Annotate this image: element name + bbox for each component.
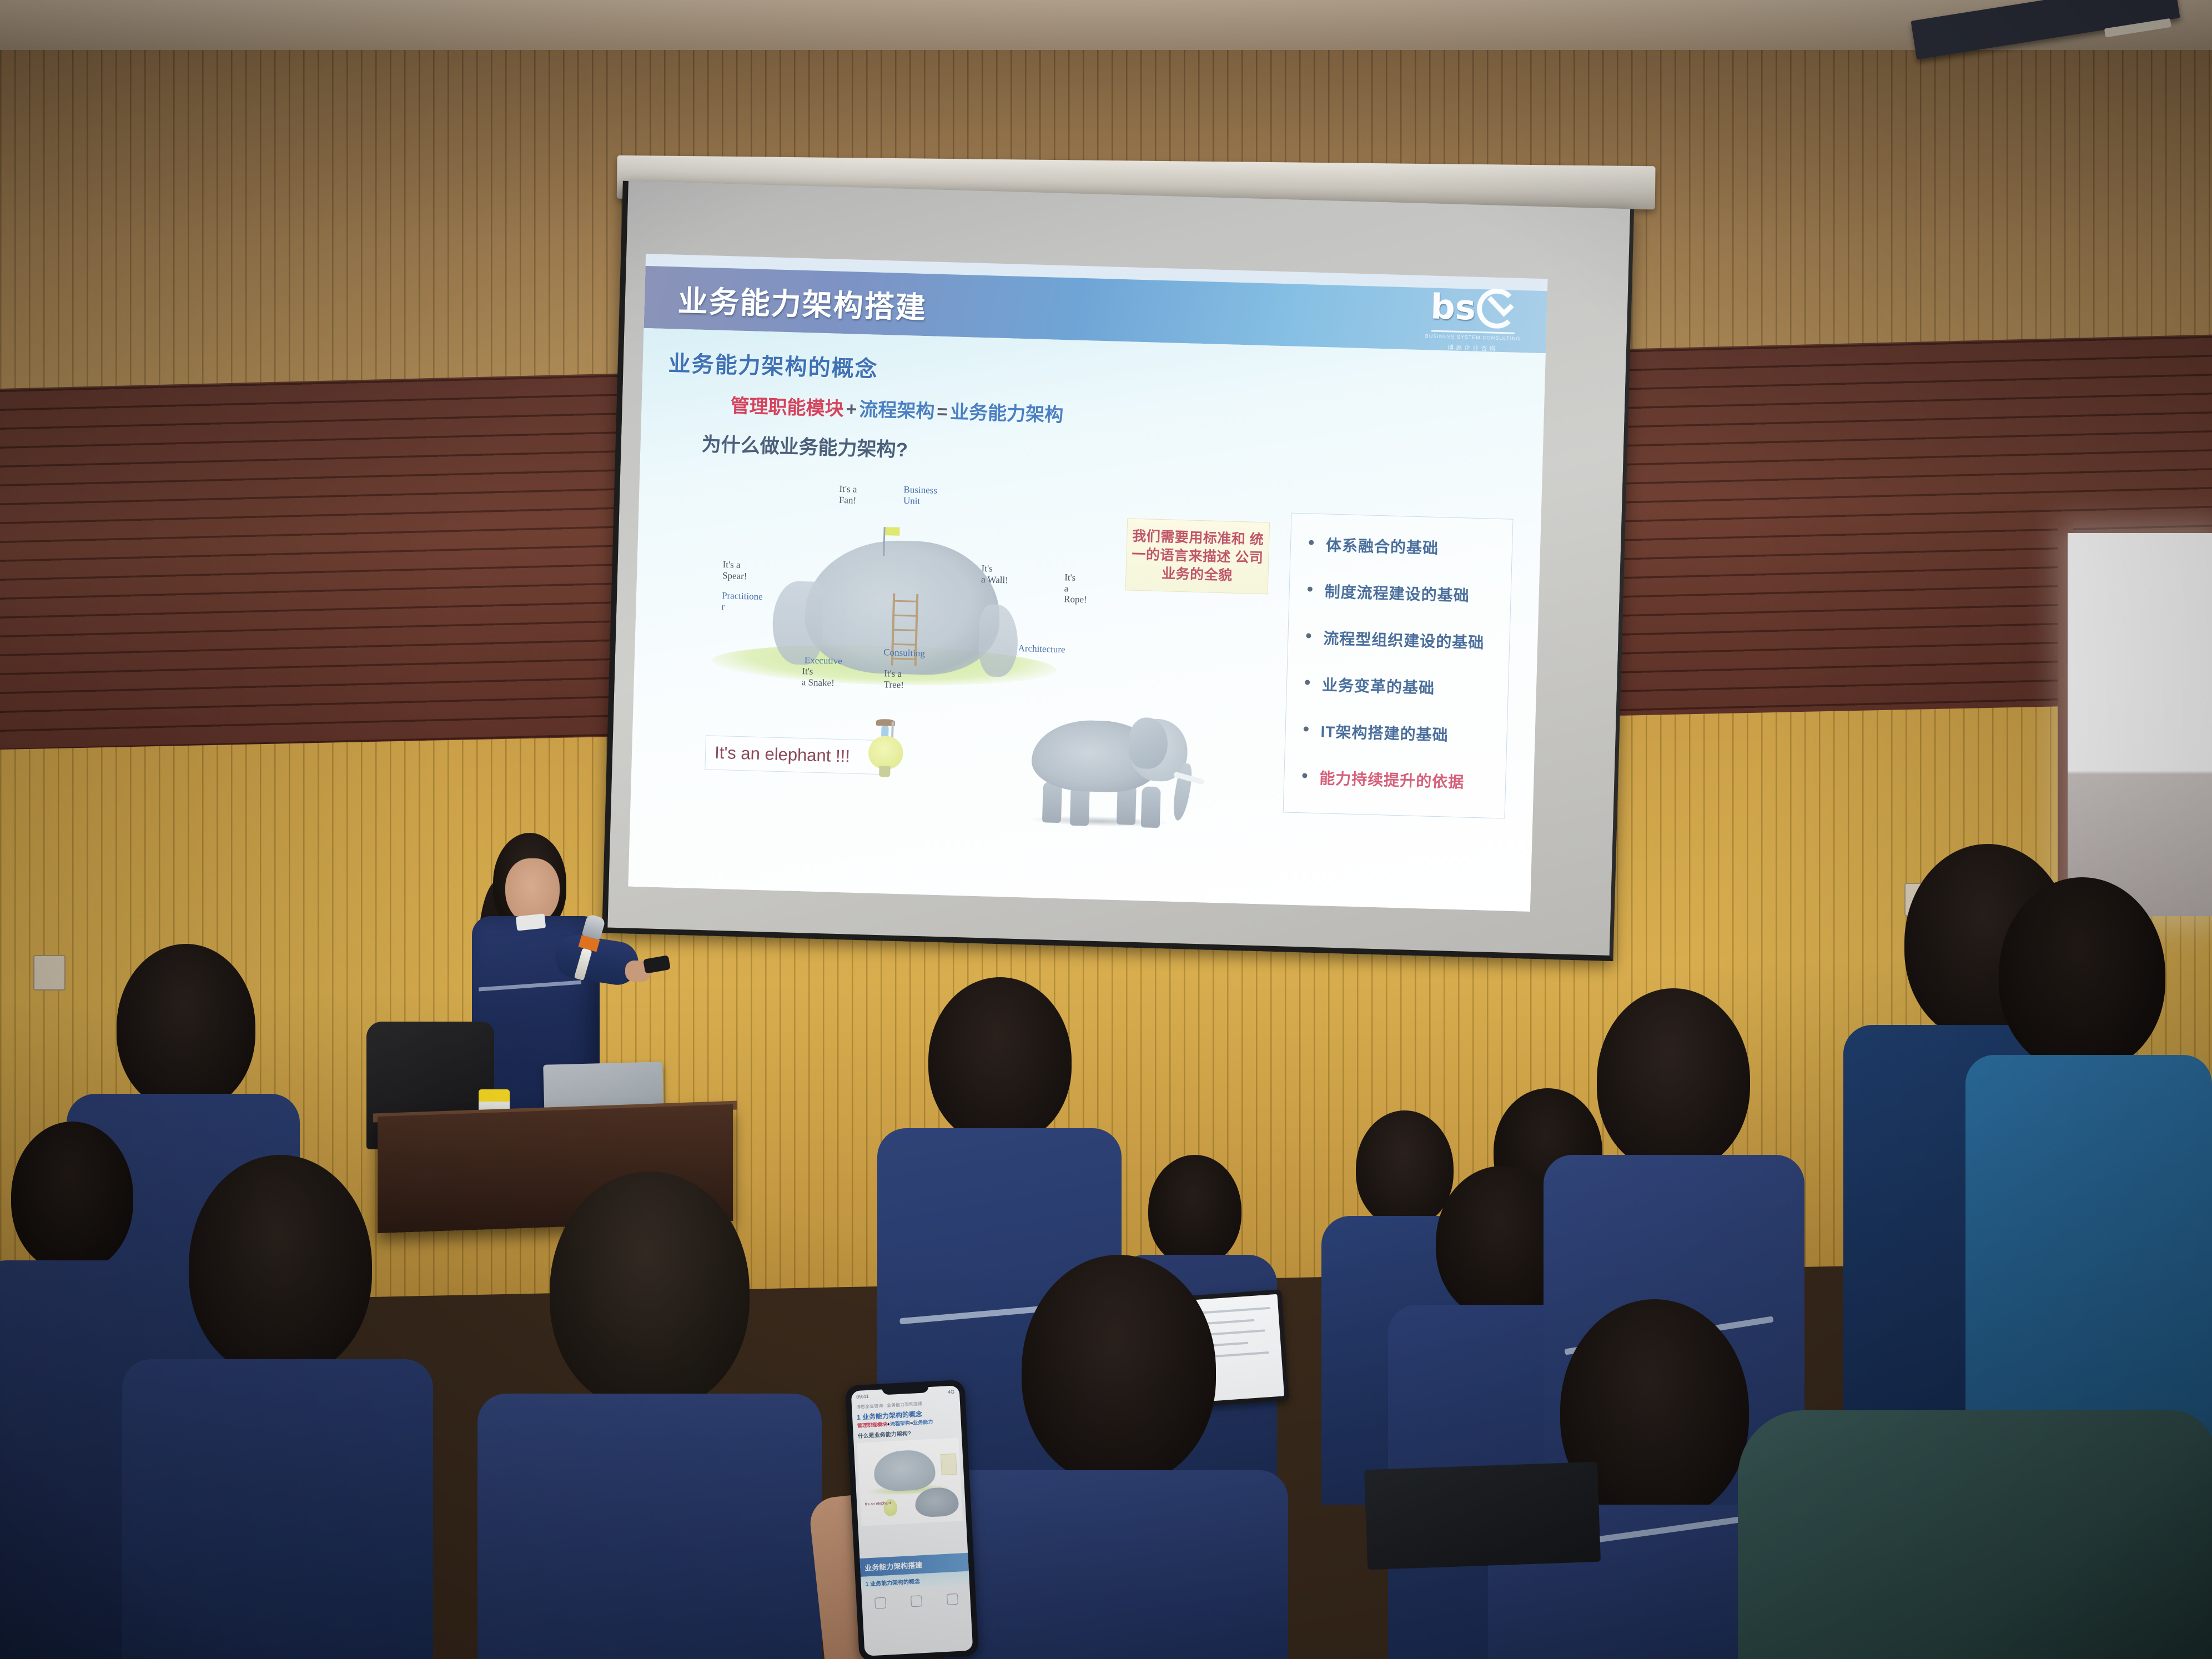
wall-socket-left (33, 955, 66, 991)
logo-tagline: BUSINESS SYSTEM CONSULTING (1425, 333, 1521, 341)
phone-prev-button[interactable] (874, 1597, 886, 1609)
illus-label-9: Consulting (883, 647, 925, 659)
projector-screen: 业务能力架构搭建 bs BUSINESS SYSTEM CONSULTING 博… (604, 147, 1676, 981)
audience-head (1999, 877, 2165, 1072)
slide-body: 业务能力架构的概念 管理职能模块+流程架构=业务能力架构 为什么做业务能力架构? (628, 328, 1545, 912)
check-circle-icon (1476, 288, 1517, 329)
bullet-label-3: 业务变革的基础 (1322, 673, 1435, 698)
bullet-label-4: IT架构搭建的基础 (1320, 720, 1449, 745)
list-item: 制度流程建设的基础 (1304, 579, 1511, 607)
formula-term-2: 流程架构 (859, 399, 935, 423)
illus-label-2: It's a Wall! (981, 563, 1009, 585)
phone-note-box (941, 1454, 957, 1475)
phone-page-button[interactable] (911, 1595, 922, 1607)
highlight-note-box: 我们需要用标准和 统一的语言来描述 公司业务的全貌 (1125, 518, 1270, 594)
bullet-dot-icon (1308, 586, 1313, 591)
logo-letters: bs (1430, 292, 1476, 323)
elephant-caption-text: It's an elephant !!! (715, 743, 851, 767)
lightbulb-icon (864, 718, 906, 778)
slide-question: 为什么做业务能力架构? (701, 429, 908, 462)
bullet-label-1: 制度流程建设的基础 (1324, 580, 1470, 606)
illus-label-3: It's a Spear! (722, 559, 747, 581)
formula-op-2: = (934, 401, 951, 423)
list-item: 体系融合的基础 (1305, 532, 1512, 560)
illus-label-6: Executive (805, 655, 842, 666)
audience-laptop[interactable] (1364, 1462, 1601, 1570)
formula-term-1: 管理职能模块 (730, 395, 844, 420)
phone-formula-t1: 管理职能模块 (857, 1421, 887, 1429)
elephant-photo-shape (1007, 705, 1194, 838)
phone-screen[interactable]: 09:41 4G 博思企业咨询 · 业务能力架构搭建 1 业务能力架构的概念 管… (851, 1385, 973, 1656)
audience-torso-green-jacket (1738, 1410, 2212, 1659)
slide-title: 业务能力架构搭建 (677, 276, 927, 326)
illus-label-7: It's a Snake! (802, 666, 835, 688)
phone-status-time: 09:41 (856, 1394, 869, 1400)
screenshot-root: 业务能力架构搭建 bs BUSINESS SYSTEM CONSULTING 博… (0, 0, 2212, 1659)
audience-head (1022, 1255, 1216, 1485)
list-item: 业务变革的基础 (1301, 672, 1509, 700)
bullet-label-0: 体系融合的基础 (1326, 533, 1439, 559)
list-item: 能力持续提升的依据 (1299, 766, 1506, 793)
audience-smartphone[interactable]: 09:41 4G 博思企业咨询 · 业务能力架构搭建 1 业务能力架构的概念 管… (845, 1380, 979, 1659)
bsc-logo: bs BUSINESS SYSTEM CONSULTING 博思企业咨询 (1425, 286, 1522, 354)
illus-label-10: Architecture (1018, 643, 1065, 655)
audience-member (477, 1172, 822, 1659)
audience-torso (122, 1359, 433, 1659)
presenter-face (505, 858, 560, 924)
audience-head (117, 944, 255, 1110)
presenter-collar (516, 913, 546, 931)
phone-next-button[interactable] (946, 1593, 958, 1605)
audience-member (122, 1155, 433, 1659)
audience-head (928, 977, 1072, 1144)
projected-slide: 业务能力架构搭建 bs BUSINESS SYSTEM CONSULTING 博… (628, 254, 1547, 912)
bullet-dot-icon (1305, 680, 1310, 685)
bullet-dot-icon (1309, 540, 1314, 545)
elephant-caption-box: It's an elephant !!! (705, 735, 889, 775)
list-item: 流程型组织建设的基础 (1303, 626, 1510, 653)
audience-head (189, 1155, 372, 1377)
cup-lid (479, 1089, 510, 1102)
audience-torso (944, 1470, 1288, 1659)
phone-formula-t3: 业务能力 (913, 1419, 933, 1426)
illus-label-4: Practitione r (721, 590, 763, 613)
bullet-dot-icon (1304, 726, 1309, 731)
bullet-label-2: 流程型组织建设的基础 (1323, 626, 1485, 653)
illus-label-1: Business Unit (903, 484, 938, 507)
audience-torso (477, 1394, 822, 1659)
screen-surface: 业务能力架构搭建 bs BUSINESS SYSTEM CONSULTING 博… (602, 181, 1634, 961)
phone-elephant-large (873, 1449, 936, 1492)
audience-head (11, 1122, 133, 1271)
audience-head (1597, 988, 1750, 1172)
logo-mark: bs (1430, 286, 1517, 329)
bullet-label-5: 能力持续提升的依据 (1319, 766, 1465, 792)
phone-next-slide-title: 业务能力架构搭建 (864, 1557, 964, 1572)
benefits-bullet-panel: 体系融合的基础 制度流程建设的基础 流程型组织建设的基础 业务变革的基 (1283, 513, 1514, 819)
phone-illustration: It's an elephant (857, 1437, 963, 1526)
audience-head (550, 1172, 750, 1410)
audience-member (1738, 1366, 2212, 1659)
bullet-dot-icon (1302, 773, 1307, 778)
formula-term-3: 业务能力架构 (950, 401, 1064, 426)
phone-formula-t2: 流程架构 (890, 1420, 910, 1427)
highlight-note-text: 我们需要用标准和 统一的语言来描述 公司业务的全貌 (1126, 527, 1269, 586)
illus-label-5: It's a Rope! (1064, 572, 1093, 605)
slide-formula: 管理职能模块+流程架构=业务能力架构 (730, 390, 1064, 427)
audience-head (1148, 1155, 1241, 1266)
list-item: IT架构搭建的基础 (1300, 719, 1507, 747)
blind-men-elephant-illustration: It's a Fan! Business Unit It's a Wall! I… (698, 474, 1095, 796)
audience-member (944, 1255, 1288, 1659)
phone-status-network: 4G (948, 1389, 955, 1395)
illus-label-8: It's a Tree! (883, 668, 904, 690)
bullet-dot-icon (1306, 633, 1311, 638)
slide-section-heading: 业务能力架构的概念 (668, 345, 878, 384)
illus-label-0: It's a Fan! (839, 484, 857, 506)
formula-op-1: + (843, 399, 859, 420)
